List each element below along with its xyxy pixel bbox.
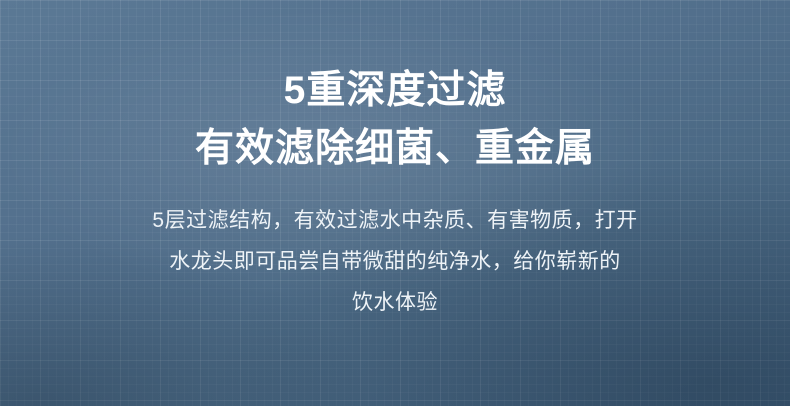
body-line-2: 水龙头即可品尝自带微甜的纯净水，给你崭新的 (169, 241, 621, 282)
body-line-3: 饮水体验 (352, 282, 438, 323)
body-line-1: 5层过滤结构，有效过滤水中杂质、有害物质，打开 (152, 200, 637, 241)
promo-banner: 5重深度过滤 有效滤除细菌、重金属 5层过滤结构，有效过滤水中杂质、有害物质，打… (0, 0, 790, 406)
headline-line-1: 5重深度过滤 (284, 62, 507, 120)
banner-content: 5重深度过滤 有效滤除细菌、重金属 5层过滤结构，有效过滤水中杂质、有害物质，打… (0, 0, 790, 406)
headline-line-2: 有效滤除细菌、重金属 (195, 120, 595, 178)
